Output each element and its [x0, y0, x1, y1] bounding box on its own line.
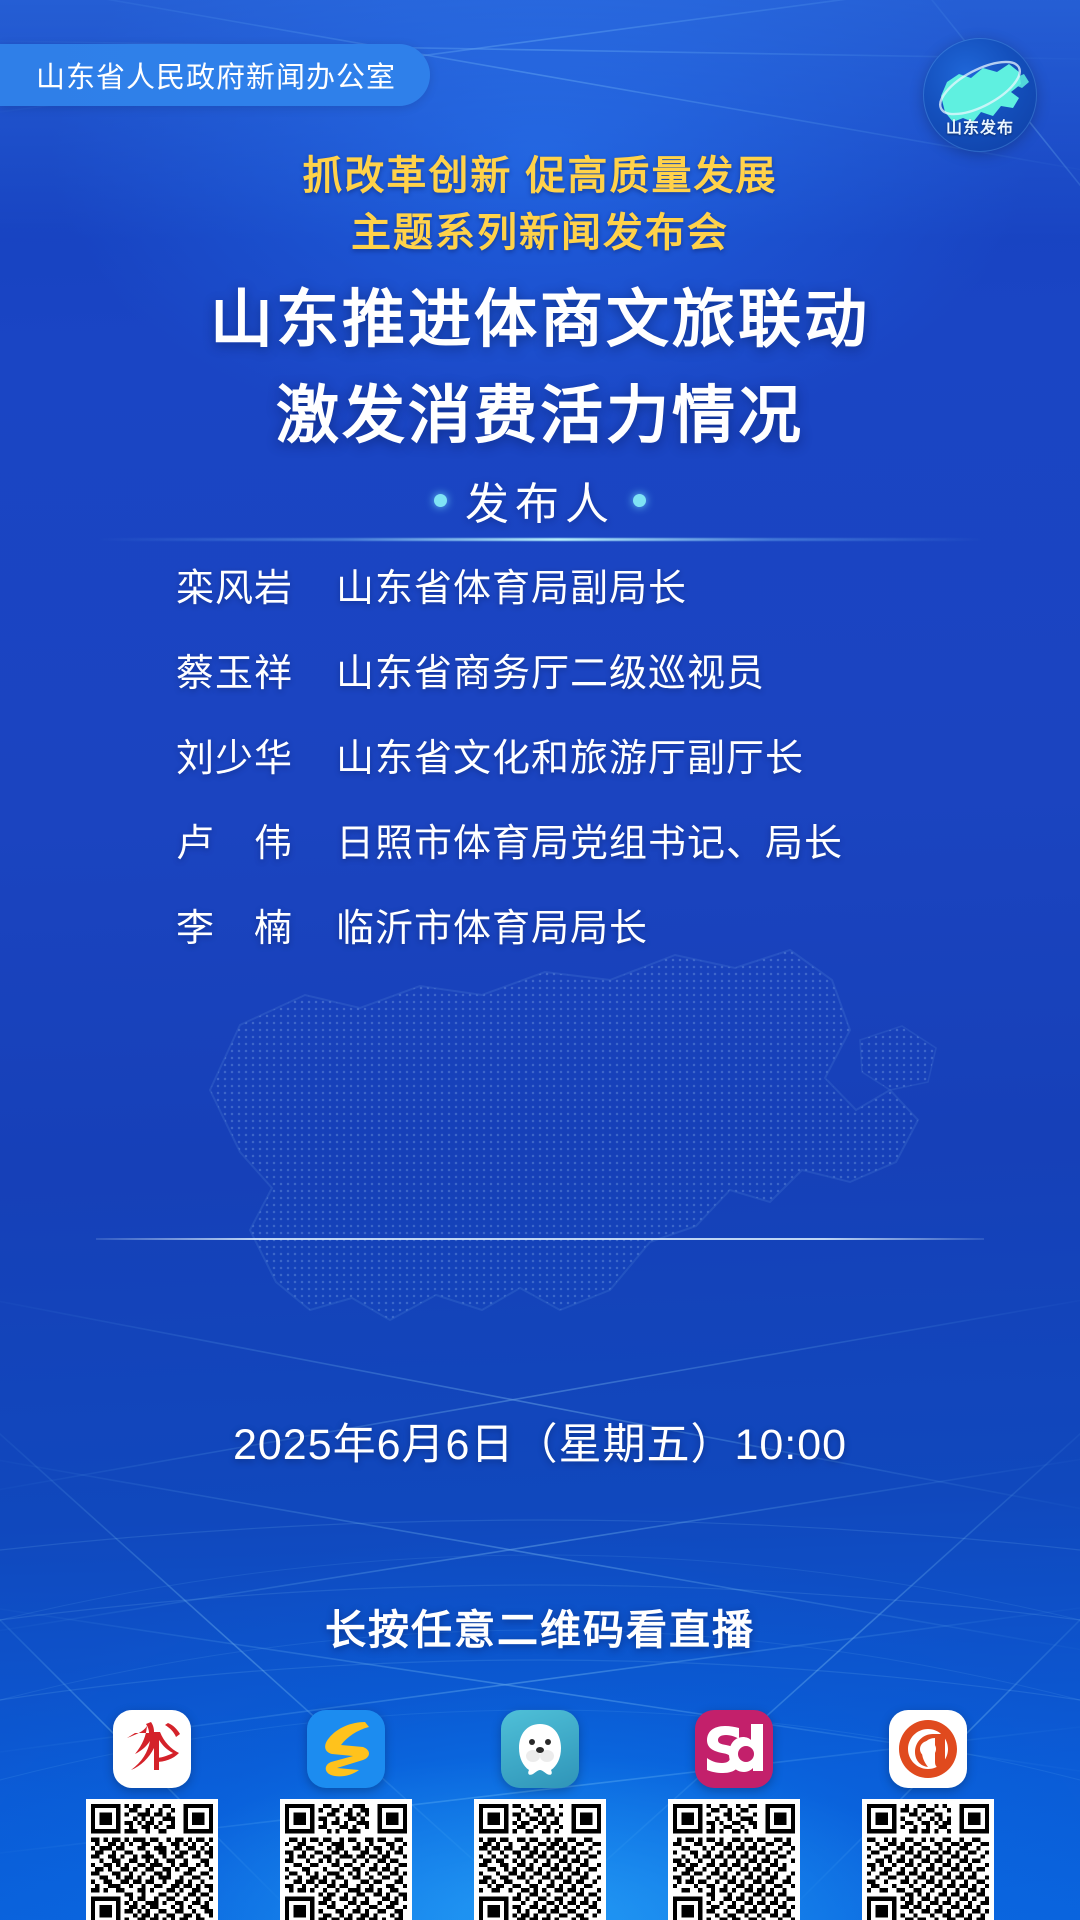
title-line-1: 山东推进体商文旅联动: [0, 272, 1080, 368]
shandian-app-icon[interactable]: [307, 1710, 385, 1788]
presenter-name: 李 楠: [176, 910, 336, 948]
header-glow-line: [95, 538, 985, 541]
series-kicker: 抓改革创新 促高质量发展 主题系列新闻发布会: [0, 148, 1080, 262]
sd-app-icon[interactable]: [695, 1710, 773, 1788]
qr-code-luwang[interactable]: [862, 1799, 994, 1920]
qr-code-dazhong[interactable]: [86, 1799, 218, 1920]
presenter-name: 刘少华: [176, 740, 336, 778]
section-divider: [96, 1238, 984, 1240]
qr-code-haibao[interactable]: [474, 1799, 606, 1920]
presenter-name: 栾风岩: [176, 570, 336, 608]
list-item: 李 楠 临沂市体育局局长: [176, 910, 843, 948]
organizer-badge: 山东省人民政府新闻办公室: [0, 44, 430, 106]
dazhong-app-icon[interactable]: [113, 1710, 191, 1788]
list-item[interactable]: 大众新闻: [66, 1710, 238, 1920]
logo-label: 山东发布: [923, 114, 1037, 138]
list-item[interactable]: 鲁网: [842, 1710, 1014, 1920]
presenter-section-label: 发布人: [465, 468, 615, 532]
presenter-name: 卢 伟: [176, 825, 336, 863]
list-item: 卢 伟 日照市体育局党组书记、局长: [176, 825, 843, 863]
shandong-fabu-logo: 山东发布: [923, 38, 1037, 152]
kicker-line-2: 主题系列新闻发布会: [0, 205, 1080, 262]
kicker-line-1: 抓改革创新 促高质量发展: [0, 148, 1080, 205]
presenter-title: 日照市体育局党组书记、局长: [336, 825, 843, 863]
presenter-name: 蔡玉祥: [176, 655, 336, 693]
live-instruction: 长按任意二维码看直播: [0, 1596, 1080, 1656]
presenter-title: 山东省文化和旅游厅副厅长: [336, 740, 804, 778]
list-item: 蔡玉祥 山东省商务厅二级巡视员: [176, 655, 843, 693]
presenter-title: 临沂市体育局局长: [336, 910, 648, 948]
list-item: 刘少华 山东省文化和旅游厅副厅长: [176, 740, 843, 778]
presenter-title: 山东省体育局副局长: [336, 570, 687, 608]
channel-list: 大众新闻: [0, 1710, 1080, 1920]
press-conference-poster: 山东省人民政府新闻办公室 山东发布 抓改革创新 促高质量发展 主题系列新闻发布会…: [0, 0, 1080, 1920]
luwang-app-icon[interactable]: [889, 1710, 967, 1788]
qr-code-shandian[interactable]: [280, 1799, 412, 1920]
schedule-datetime: 2025年6月6日（星期五）10:00: [0, 1410, 1080, 1472]
bullet-dot-right-icon: [633, 494, 646, 507]
list-item[interactable]: 闪电新闻: [260, 1710, 432, 1920]
list-item: 栾风岩 山东省体育局副局长: [176, 570, 843, 608]
presenter-list: 栾风岩 山东省体育局副局长 蔡玉祥 山东省商务厅二级巡视员 刘少华 山东省文化和…: [176, 570, 843, 995]
bullet-dot-left-icon: [434, 494, 447, 507]
list-item[interactable]: 海报新闻: [454, 1710, 626, 1920]
qr-code-zhongguoshandong[interactable]: [668, 1799, 800, 1920]
page-title: 山东推进体商文旅联动 激发消费活力情况: [0, 272, 1080, 465]
presenter-section-header: 发布人: [0, 468, 1080, 532]
list-item[interactable]: 中国山东网: [648, 1710, 820, 1920]
title-line-2: 激发消费活力情况: [0, 368, 1080, 464]
presenter-title: 山东省商务厅二级巡视员: [336, 655, 765, 693]
haibao-seal-app-icon[interactable]: [501, 1710, 579, 1788]
